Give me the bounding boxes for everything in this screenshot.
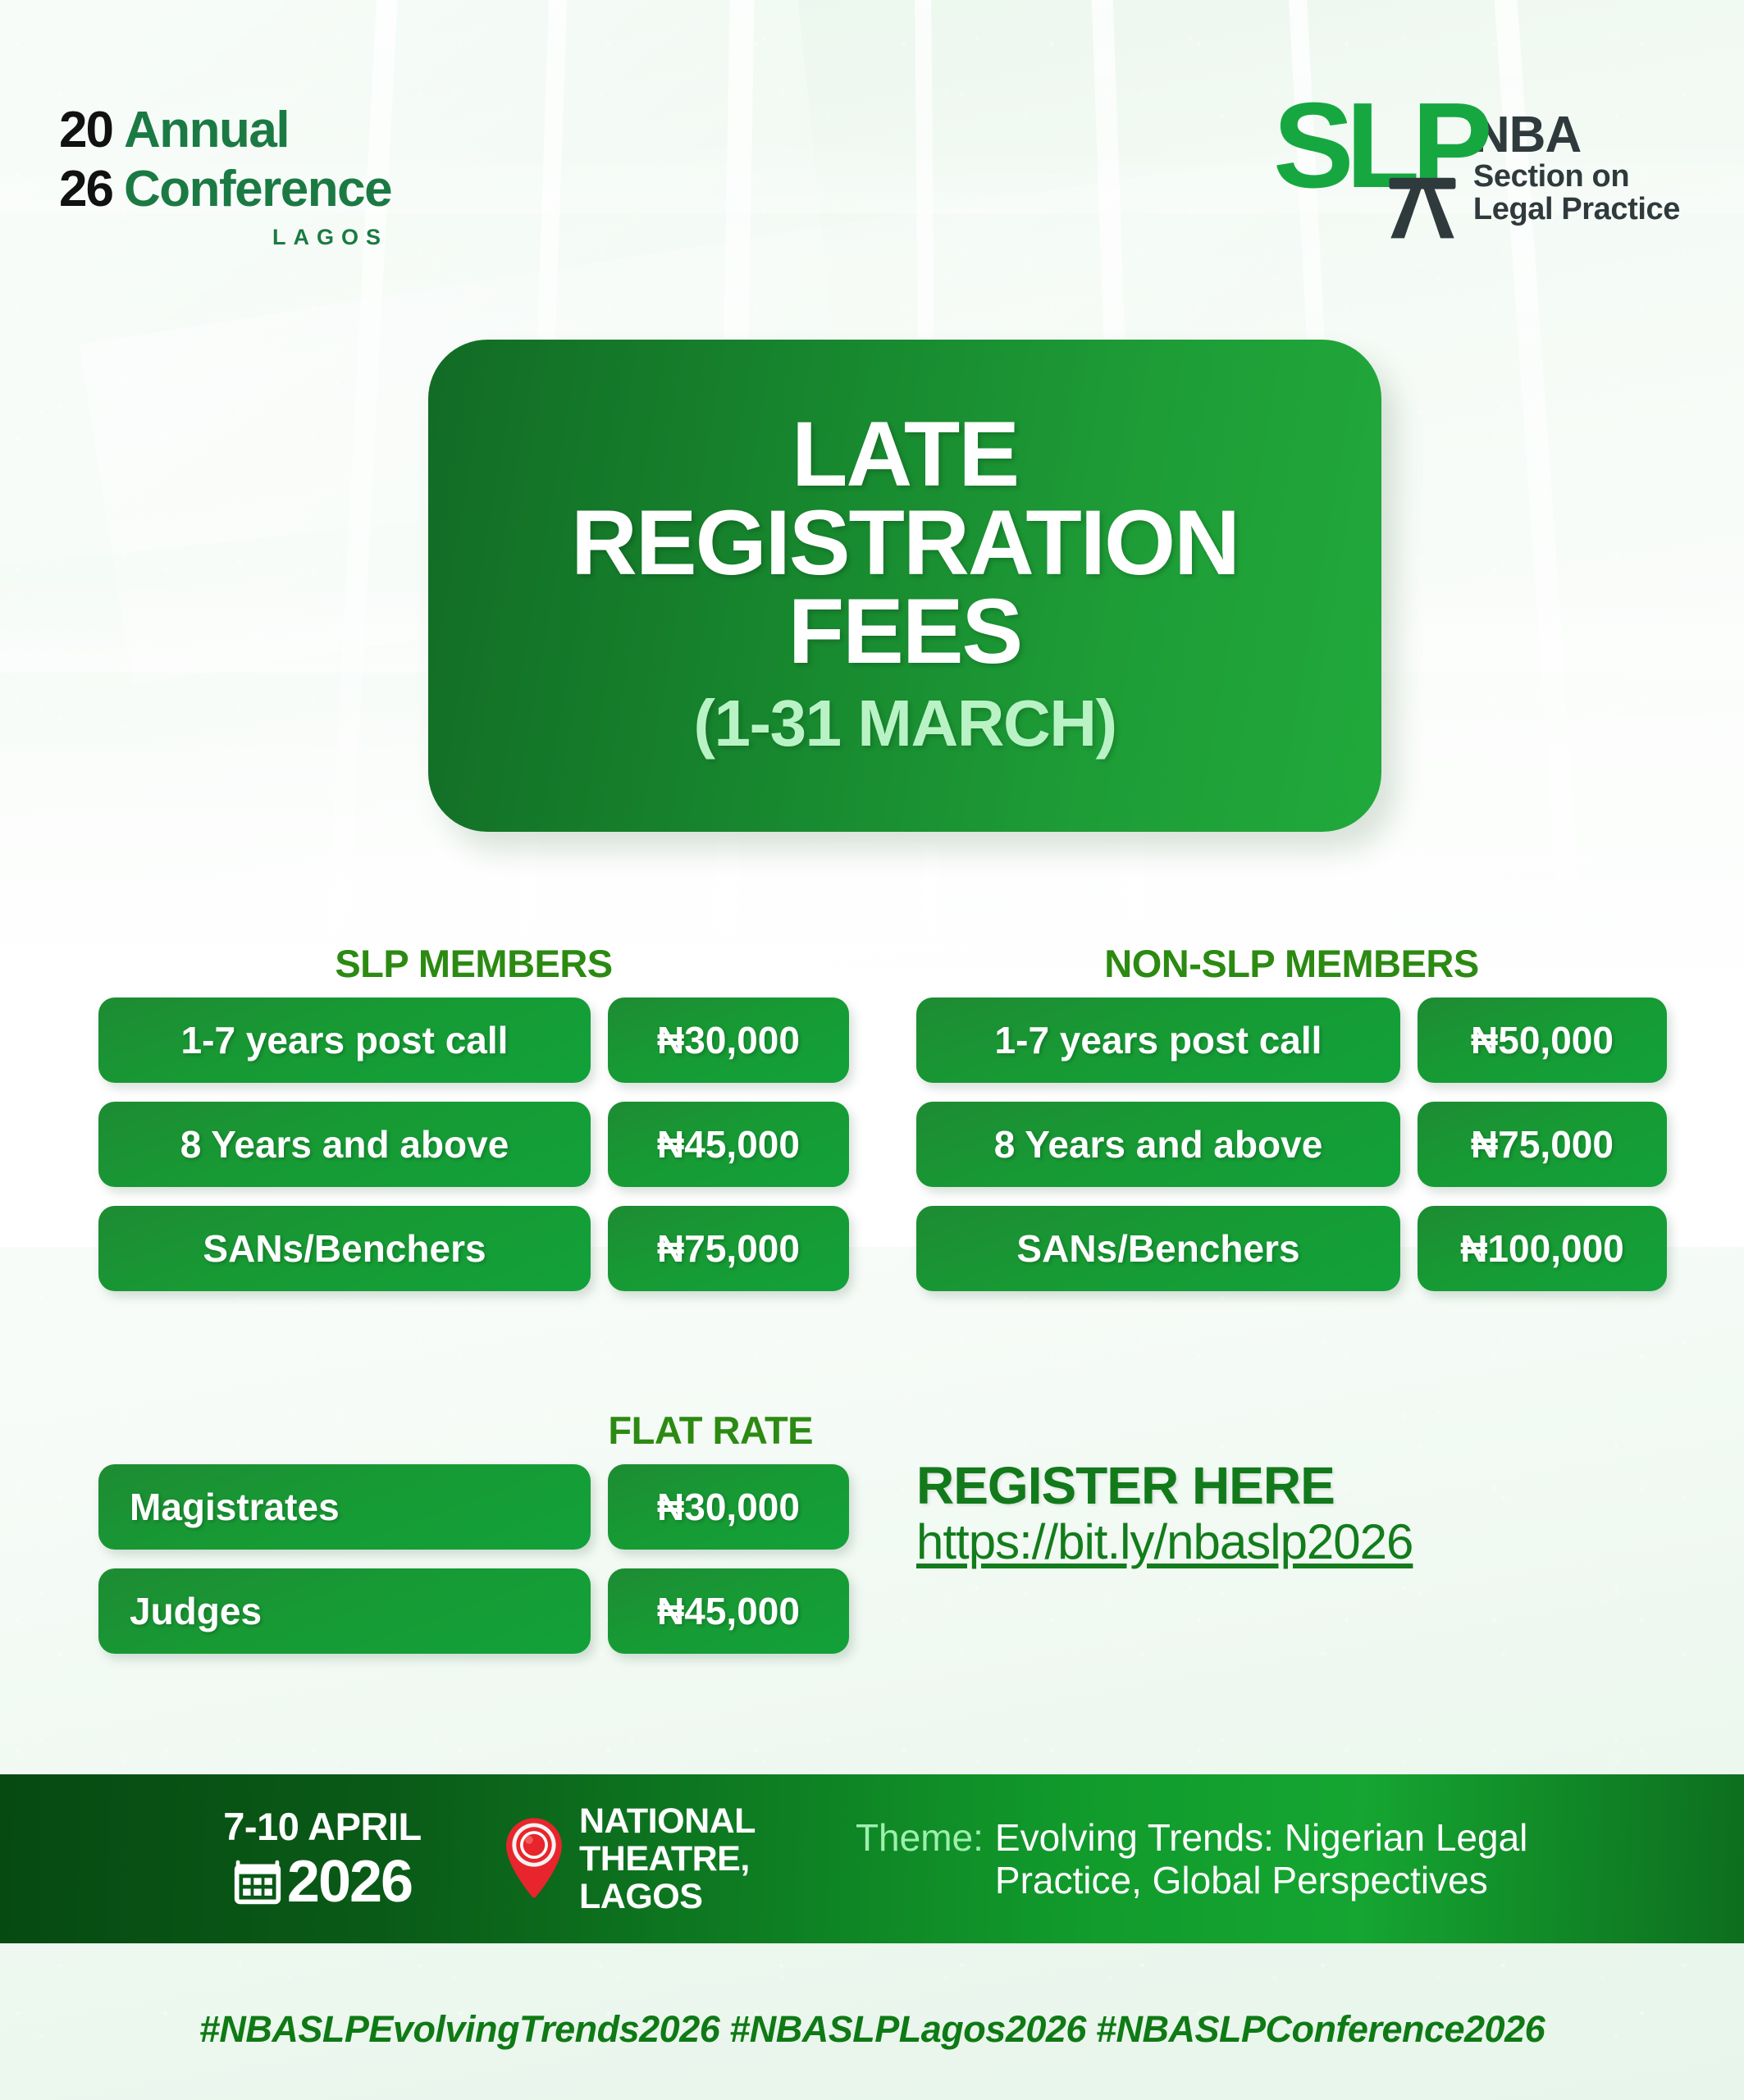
fee-price: ₦45,000 <box>608 1102 849 1187</box>
hero-line-3: FEES <box>788 587 1022 676</box>
torii-a-icon <box>1385 166 1460 241</box>
footer-band: 7-10 APRIL 2026 <box>0 1774 1744 1943</box>
poster-root: 20 26 Annual Conference LAGOS SLP NBA Se… <box>0 0 1744 2100</box>
registration-link[interactable]: https://bit.ly/nbaslp2026 <box>916 1514 1413 1569</box>
table-row: SANs/Benchers ₦75,000 <box>98 1206 849 1291</box>
event-date-days: 7-10 APRIL <box>207 1806 438 1848</box>
conference-city: LAGOS <box>59 225 391 250</box>
fee-label: 1-7 years post call <box>98 997 591 1083</box>
fee-label: Magistrates <box>98 1464 591 1550</box>
location-pin-icon <box>502 1816 566 1901</box>
table-row: 8 Years and above ₦45,000 <box>98 1102 849 1187</box>
slp-members-table: SLP MEMBERS 1-7 years post call ₦30,000 … <box>98 941 849 1310</box>
table-row: Magistrates ₦30,000 <box>98 1464 849 1550</box>
theme-line-2: Practice, Global Perspectives <box>995 1859 1527 1901</box>
fee-price: ₦30,000 <box>608 1464 849 1550</box>
fee-price: ₦100,000 <box>1418 1206 1667 1291</box>
hashtags: #NBASLPEvolvingTrends2026 #NBASLPLagos20… <box>0 2008 1744 2051</box>
flat-rate-heading: FLAT RATE <box>98 1408 849 1453</box>
event-date: 7-10 APRIL 2026 <box>207 1806 438 1912</box>
year-top: 20 <box>59 105 112 156</box>
nba-title: NBA <box>1473 111 1680 160</box>
venue-line-1: NATIONAL <box>579 1802 756 1840</box>
slp-nba-logo: SLP NBA Section on Legal Practice <box>1278 98 1680 236</box>
event-venue: NATIONAL THEATRE, LAGOS <box>502 1802 756 1915</box>
hero-title-card: LATE REGISTRATION FEES (1-31 MARCH) <box>428 340 1381 832</box>
non-slp-members-heading: NON-SLP MEMBERS <box>916 941 1667 986</box>
table-row: 8 Years and above ₦75,000 <box>916 1102 1667 1187</box>
venue-line-2: THEATRE, <box>579 1840 756 1878</box>
slp-logotype: SLP <box>1278 98 1455 236</box>
fee-label: 8 Years and above <box>916 1102 1400 1187</box>
word-conference: Conference <box>124 164 391 215</box>
nba-sub-line2: Legal Practice <box>1473 193 1680 226</box>
table-row: 1-7 years post call ₦50,000 <box>916 997 1667 1083</box>
theme-label: Theme: <box>856 1816 984 1859</box>
conference-words: Annual Conference <box>124 105 391 223</box>
year-bottom: 26 <box>59 164 112 215</box>
event-theme: Theme: Evolving Trends: Nigerian Legal P… <box>856 1816 1527 1901</box>
fee-price: ₦50,000 <box>1418 997 1667 1083</box>
theme-text: Evolving Trends: Nigerian Legal Practice… <box>995 1816 1527 1901</box>
table-row: 1-7 years post call ₦30,000 <box>98 997 849 1083</box>
venue-line-3: LAGOS <box>579 1878 756 1915</box>
theme-line-1: Evolving Trends: Nigerian Legal <box>995 1816 1527 1859</box>
register-here-heading: REGISTER HERE <box>916 1459 1413 1513</box>
fee-price: ₦45,000 <box>608 1568 849 1654</box>
hero-line-2: REGISTRATION <box>571 499 1239 587</box>
conference-wordmark: 20 26 Annual Conference LAGOS <box>59 105 391 250</box>
event-date-year: 2026 <box>287 1851 412 1912</box>
fee-label: Judges <box>98 1568 591 1654</box>
fee-price: ₦30,000 <box>608 997 849 1083</box>
hero-subtitle: (1-31 MARCH) <box>693 686 1116 761</box>
nba-sub-line1: Section on <box>1473 160 1680 193</box>
table-row: Judges ₦45,000 <box>98 1568 849 1654</box>
nba-wordmark: NBA Section on Legal Practice <box>1473 109 1680 226</box>
fee-label: 1-7 years post call <box>916 997 1400 1083</box>
venue-text: NATIONAL THEATRE, LAGOS <box>579 1802 756 1915</box>
flat-rate-table: FLAT RATE Magistrates ₦30,000 Judges ₦45… <box>98 1408 849 1673</box>
hero-line-1: LATE <box>792 410 1018 499</box>
word-annual: Annual <box>124 105 391 156</box>
table-row: SANs/Benchers ₦100,000 <box>916 1206 1667 1291</box>
fee-price: ₦75,000 <box>608 1206 849 1291</box>
conference-year: 20 26 <box>59 105 112 223</box>
calendar-icon <box>233 1857 282 1906</box>
fee-price: ₦75,000 <box>1418 1102 1667 1187</box>
slp-members-heading: SLP MEMBERS <box>98 941 849 986</box>
fee-label: SANs/Benchers <box>98 1206 591 1291</box>
non-slp-members-table: NON-SLP MEMBERS 1-7 years post call ₦50,… <box>916 941 1667 1310</box>
register-block: REGISTER HERE https://bit.ly/nbaslp2026 <box>916 1459 1413 1572</box>
fee-label: 8 Years and above <box>98 1102 591 1187</box>
fee-label: SANs/Benchers <box>916 1206 1400 1291</box>
